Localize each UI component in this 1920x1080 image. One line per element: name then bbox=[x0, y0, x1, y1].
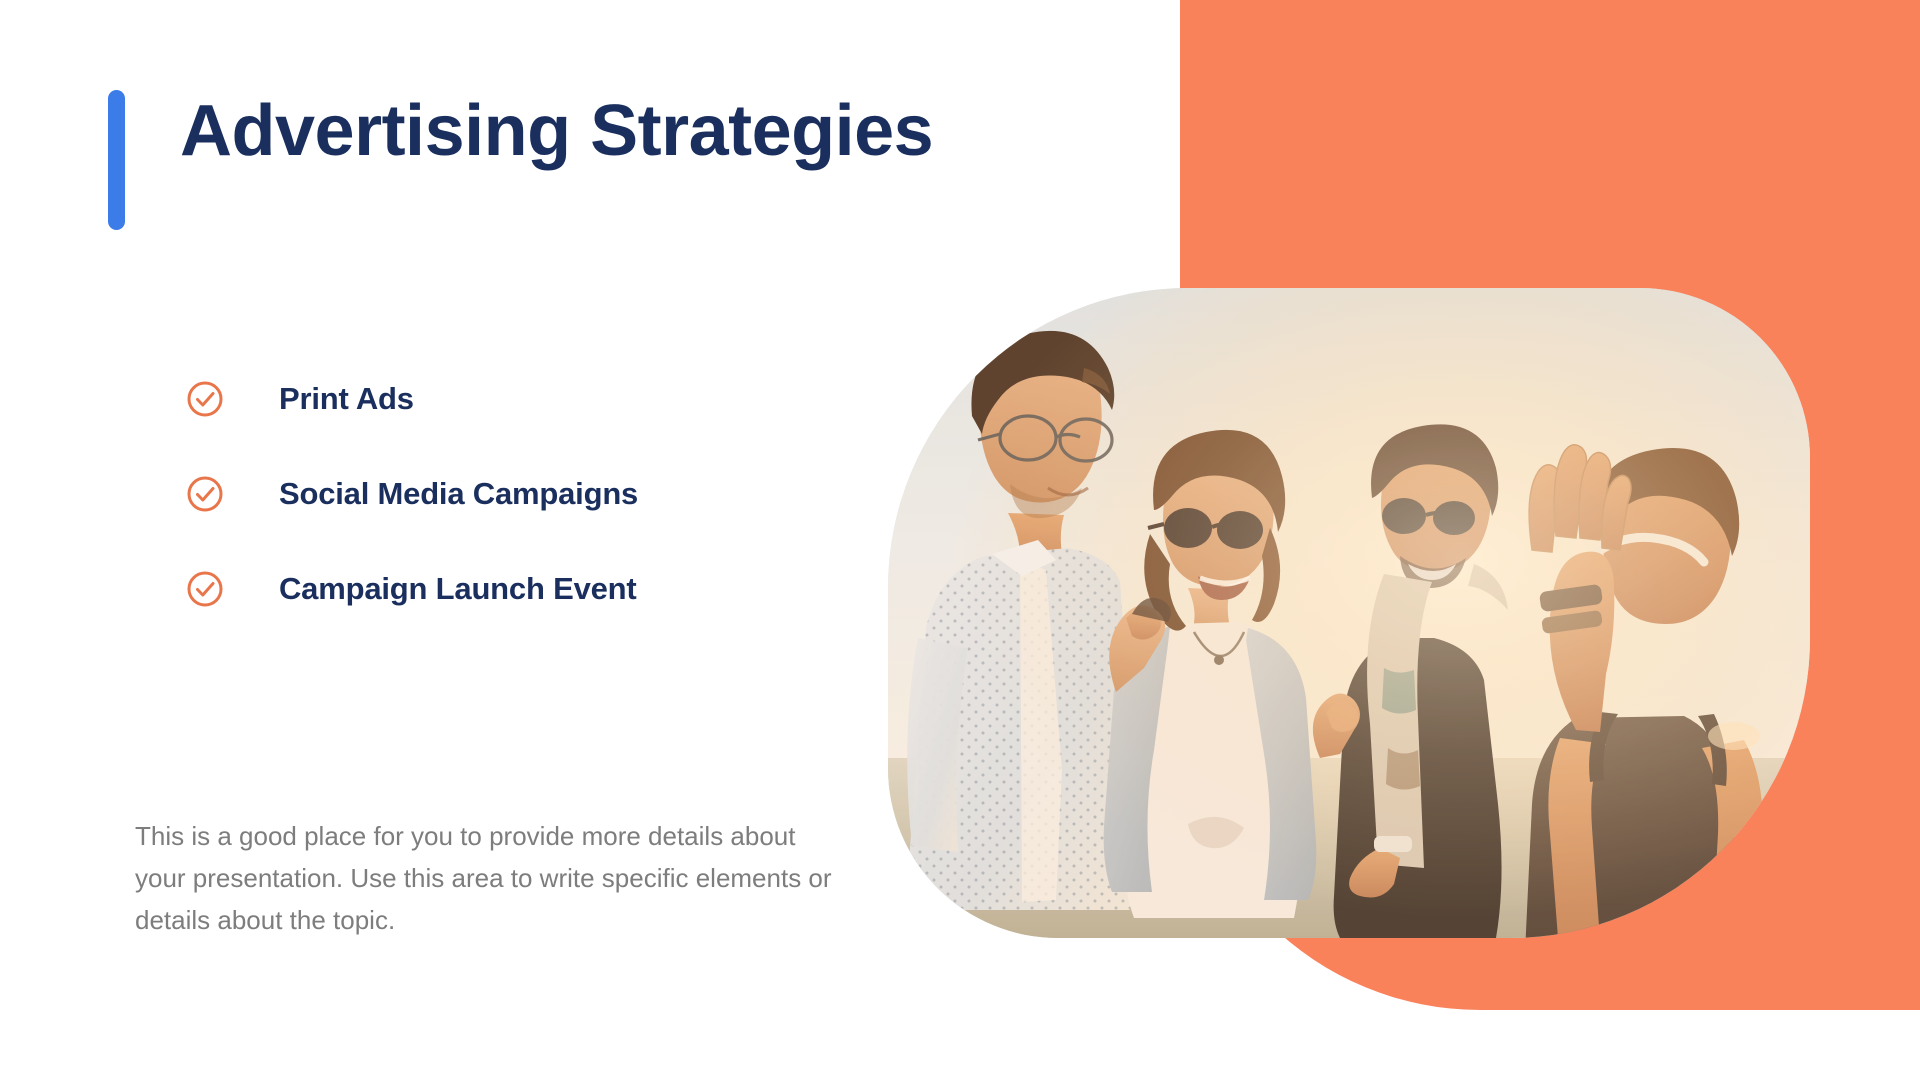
presentation-slide: Advertising Strategies Print Ads Social … bbox=[0, 0, 1920, 1080]
list-item-label: Print Ads bbox=[279, 381, 414, 417]
page-title: Advertising Strategies bbox=[180, 86, 933, 176]
title-accent-bar bbox=[108, 90, 125, 230]
list-item[interactable]: Print Ads bbox=[186, 375, 638, 423]
circle-check-icon bbox=[186, 475, 224, 513]
photo-illustration bbox=[888, 288, 1810, 938]
list-item-label: Social Media Campaigns bbox=[279, 476, 638, 512]
list-item[interactable]: Social Media Campaigns bbox=[186, 470, 638, 518]
circle-check-icon bbox=[186, 380, 224, 418]
circle-check-icon bbox=[186, 570, 224, 608]
list-item-label: Campaign Launch Event bbox=[279, 571, 637, 607]
body-paragraph: This is a good place for you to provide … bbox=[135, 815, 835, 941]
hero-photo bbox=[888, 288, 1810, 938]
list-item[interactable]: Campaign Launch Event bbox=[186, 565, 638, 613]
checklist: Print Ads Social Media Campaigns Campaig… bbox=[186, 375, 638, 660]
